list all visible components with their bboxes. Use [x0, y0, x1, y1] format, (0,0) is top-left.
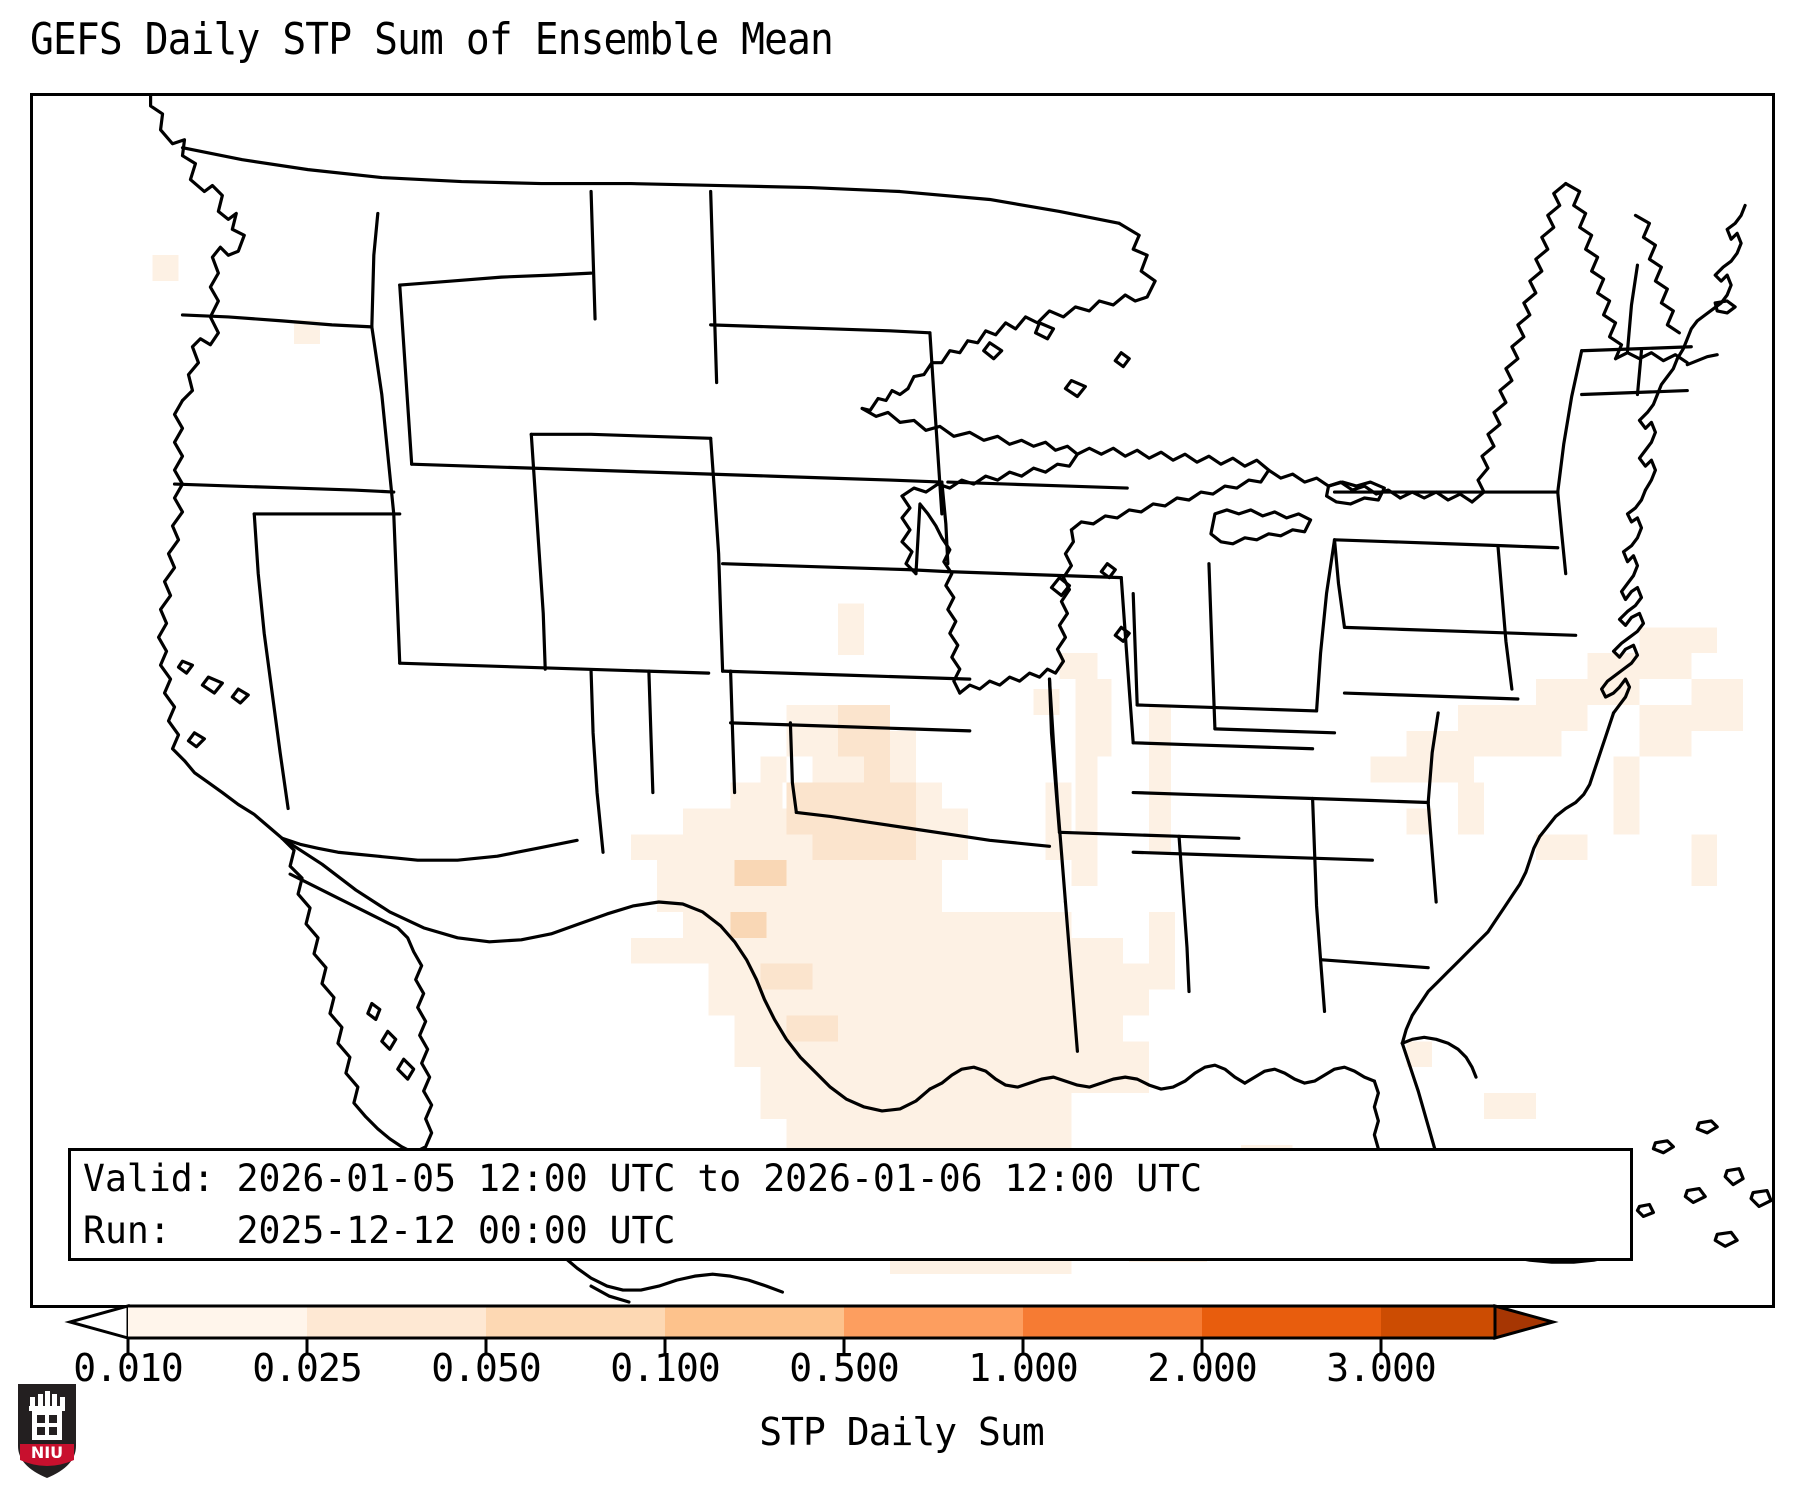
- border-wv-va: [1317, 540, 1335, 711]
- border-la-tx: [1065, 902, 1077, 1051]
- border-mo-ar: [1049, 679, 1059, 832]
- border-mt-nd-upper: [591, 192, 595, 319]
- run-line: Run: 2025-12-12 00:00 UTC: [83, 1205, 1595, 1257]
- border-id-mt-w: [400, 285, 412, 464]
- border-ma-ct: [1582, 391, 1688, 395]
- border-wy-sd-ne: [711, 474, 942, 482]
- lake-erie: [1211, 510, 1311, 544]
- border-va-md-coast: [1498, 546, 1512, 689]
- channel-island-4: [188, 733, 204, 747]
- border-oh-wv: [1215, 729, 1335, 733]
- superior-islet-2: [1115, 353, 1129, 367]
- isle-royale: [1036, 323, 1054, 339]
- pacific-coast-bc: [151, 96, 245, 400]
- border-mt-wy: [412, 464, 711, 474]
- border-nv-ca-east: [394, 514, 400, 663]
- border-az-ut-nm-co: [400, 663, 709, 673]
- cbar-seg-2: [307, 1306, 486, 1338]
- border-ne-ia-west: [942, 482, 948, 564]
- cbar-seg-1: [128, 1306, 307, 1338]
- border-ny-vt-nh: [1558, 351, 1582, 492]
- channel-island-1: [178, 661, 192, 673]
- niu-logo: NIU: [16, 1380, 78, 1480]
- cbar-seg-6: [1023, 1306, 1202, 1338]
- cbar-tick-label-7: 3.000: [1326, 1346, 1435, 1390]
- border-ga-fl: [1321, 960, 1429, 968]
- border-nd-mn-line: [711, 192, 717, 383]
- border-ok-tx-red-river: [796, 812, 1049, 846]
- us-mexico-border: [282, 838, 930, 1111]
- colorbar-over-arrow: [1495, 1306, 1553, 1338]
- border-az-nm-south: [591, 671, 603, 852]
- border-il-in: [1133, 594, 1137, 705]
- border-nh-me: [1627, 265, 1637, 351]
- gulf-st-lawrence: [1566, 184, 1622, 359]
- cbar-seg-5: [844, 1306, 1023, 1338]
- border-nm-tx-west: [649, 671, 653, 792]
- border-or-id: [372, 327, 394, 514]
- long-island: [1687, 355, 1717, 365]
- border-al-ga: [1313, 799, 1325, 1012]
- cbar-tick-label-5: 1.000: [968, 1346, 1077, 1390]
- island-a: [368, 1003, 380, 1019]
- border-pa-md-va: [1335, 540, 1558, 548]
- coastlines-and-borders: [151, 96, 1771, 1302]
- border-wa-id: [372, 213, 378, 326]
- cbar-seg-3: [486, 1306, 665, 1338]
- cbar-tick-label-3: 0.100: [610, 1346, 719, 1390]
- cbar-seg-7: [1202, 1306, 1381, 1338]
- bahamas-4: [1697, 1121, 1717, 1133]
- logo-text: NIU: [31, 1443, 63, 1462]
- cbar-seg-8: [1381, 1306, 1495, 1338]
- wisconsin-east: [902, 496, 916, 574]
- border-ms-al-n: [1133, 852, 1372, 860]
- cbar-seg-4: [665, 1306, 844, 1338]
- border-nc-va: [1344, 627, 1575, 635]
- border-va-nc-west: [1335, 540, 1345, 628]
- lake-huron-north: [1071, 448, 1268, 530]
- bahamas-9: [1715, 1232, 1737, 1246]
- border-nv-ut-notch: [254, 514, 288, 809]
- border-in-oh: [1209, 564, 1215, 729]
- border-ne-ks: [723, 564, 948, 572]
- border-ok-panhandle-west: [731, 671, 735, 792]
- border-ia-mo: [948, 572, 1121, 578]
- border-mo-il-kentucky: [1121, 578, 1133, 743]
- cbar-tick-label-0: 0.010: [73, 1346, 182, 1390]
- cbar-tick-label-1: 0.025: [252, 1346, 361, 1390]
- border-nd-sd-north: [711, 325, 930, 333]
- map-panel: Valid: 2026-01-05 12:00 UTC to 2026-01-0…: [30, 93, 1775, 1308]
- border-oh-ky: [1137, 705, 1316, 711]
- bahamas-7: [1751, 1191, 1771, 1207]
- bahamas-5: [1725, 1169, 1743, 1185]
- cbar-tick-label-2: 0.050: [431, 1346, 540, 1390]
- border-ks-ok: [723, 671, 970, 679]
- island-c: [398, 1059, 414, 1079]
- valid-line: Valid: 2026-01-05 12:00 UTC to 2026-01-0…: [83, 1153, 1595, 1205]
- superior-islet-3: [1065, 381, 1085, 397]
- colorbar-axis-label: STP Daily Sum: [0, 1410, 1803, 1454]
- page-title: GEFS Daily STP Sum of Ensemble Mean: [30, 14, 833, 65]
- border-tx-ok-panhandle-e: [790, 723, 796, 813]
- mexico-north-border: [282, 838, 577, 860]
- border-tn-ms-al-ga: [1133, 793, 1428, 803]
- florida-north-coast: [1402, 1037, 1476, 1077]
- border-ms-al-line: [1179, 836, 1189, 991]
- bahamas-6: [1685, 1189, 1705, 1203]
- border-ar-la-ms: [1059, 832, 1238, 838]
- channel-island-2: [202, 677, 222, 693]
- bahamas-3: [1653, 1141, 1673, 1153]
- lake-michigan-west: [916, 504, 960, 693]
- carolina-capes: [1602, 490, 1646, 713]
- border-ga-sc-east: [1428, 802, 1436, 902]
- border-wy-ut-co: [531, 434, 710, 438]
- gulf-coast-ms-al: [1245, 1067, 1375, 1083]
- mid-atlantic-coast: [1639, 359, 1677, 490]
- bahamas-8: [1637, 1204, 1653, 1216]
- minnesota-ne: [862, 389, 908, 411]
- border-nj-east: [1558, 492, 1566, 574]
- cbar-tick-label-6: 2.000: [1147, 1346, 1256, 1390]
- border-mt-north-inner: [400, 273, 591, 285]
- gulf-coast-tx-la: [930, 1065, 1245, 1089]
- border-ok-tx-panhandle: [731, 723, 970, 731]
- us-canada-border-west: [182, 148, 1119, 224]
- channel-island-3: [232, 689, 248, 703]
- border-nc-sc: [1344, 693, 1517, 699]
- island-b: [382, 1031, 396, 1049]
- new-england-coast: [1677, 205, 1745, 358]
- info-box: Valid: 2026-01-05 12:00 UTC to 2026-01-0…: [68, 1148, 1633, 1261]
- border-or-ca: [175, 484, 394, 492]
- border-sc-nc-w: [1428, 713, 1438, 803]
- newfoundland: [1635, 215, 1679, 332]
- lake-michigan-east: [960, 530, 1074, 693]
- us-map-outlines: [33, 96, 1772, 1305]
- colorbar-segments: [128, 1306, 1495, 1338]
- colorbar-panel: 0.010 0.025 0.050 0.100 0.500 1.000 2.00…: [0, 1300, 1803, 1500]
- quebec-east: [1472, 184, 1566, 502]
- colorbar-under-arrow: [70, 1306, 128, 1338]
- superior-islet: [984, 343, 1002, 359]
- border-vt-nh-ma: [1582, 347, 1692, 351]
- border-ky-tn-north: [1133, 743, 1312, 749]
- cbar-tick-label-4: 0.500: [789, 1346, 898, 1390]
